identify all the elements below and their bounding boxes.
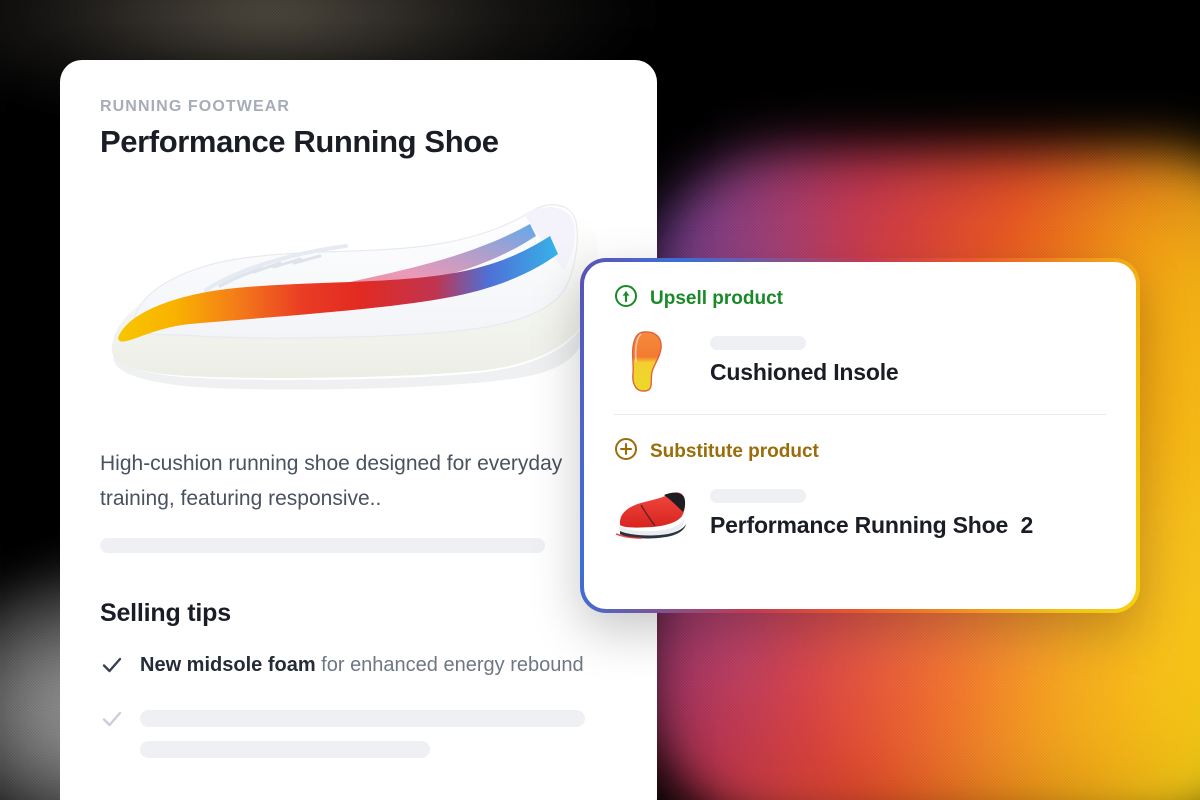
skeleton-bar <box>710 489 806 503</box>
selling-tip-skeleton-bars <box>140 704 585 758</box>
checkmark-icon-muted <box>100 707 124 736</box>
red-shoe-thumbnail <box>614 481 692 547</box>
skeleton-bar <box>140 741 430 758</box>
upsell-section: Upsell product <box>584 262 1136 415</box>
substitute-product-row[interactable]: Performance Running Shoe 2 <box>614 481 1106 547</box>
product-description: High-cushion running shoe designed for e… <box>100 446 617 516</box>
circle-arrow-up-icon <box>614 284 638 314</box>
substitute-product-name: Performance Running Shoe 2 <box>710 512 1033 539</box>
description-skeleton-bar <box>100 538 545 553</box>
skeleton-bar <box>710 336 806 350</box>
screenshot-stage: RUNNING FOOTWEAR Performance Running Sho… <box>0 0 1200 800</box>
product-category-label: RUNNING FOOTWEAR <box>100 98 617 116</box>
upsell-header: Upsell product <box>614 284 1106 314</box>
substitute-label: Substitute product <box>650 441 819 463</box>
substitute-section: Substitute product <box>584 415 1136 547</box>
skeleton-bar <box>140 710 585 727</box>
recommendation-card: Upsell product <box>580 258 1140 613</box>
selling-tip-item: New midsole foam for enhanced energy reb… <box>100 650 617 682</box>
checkmark-icon <box>100 653 124 682</box>
selling-tip-rest: for enhanced energy rebound <box>316 654 584 676</box>
selling-tip-highlight: New midsole foam <box>140 654 316 676</box>
product-card: RUNNING FOOTWEAR Performance Running Sho… <box>60 60 657 800</box>
insole-thumbnail <box>614 328 692 394</box>
selling-tip-item-skeleton <box>100 704 617 758</box>
upsell-product-meta: Cushioned Insole <box>710 336 898 386</box>
selling-tip-text: New midsole foam for enhanced energy reb… <box>140 650 584 680</box>
selling-tips-heading: Selling tips <box>100 599 617 628</box>
circle-plus-icon <box>614 437 638 467</box>
substitute-header: Substitute product <box>614 437 1106 467</box>
substitute-product-meta: Performance Running Shoe 2 <box>710 489 1033 539</box>
product-hero-image <box>94 178 614 428</box>
page-title: Performance Running Shoe <box>100 124 617 160</box>
upsell-product-row[interactable]: Cushioned Insole <box>614 328 1106 394</box>
upsell-product-name: Cushioned Insole <box>710 359 898 386</box>
upsell-label: Upsell product <box>650 288 783 310</box>
